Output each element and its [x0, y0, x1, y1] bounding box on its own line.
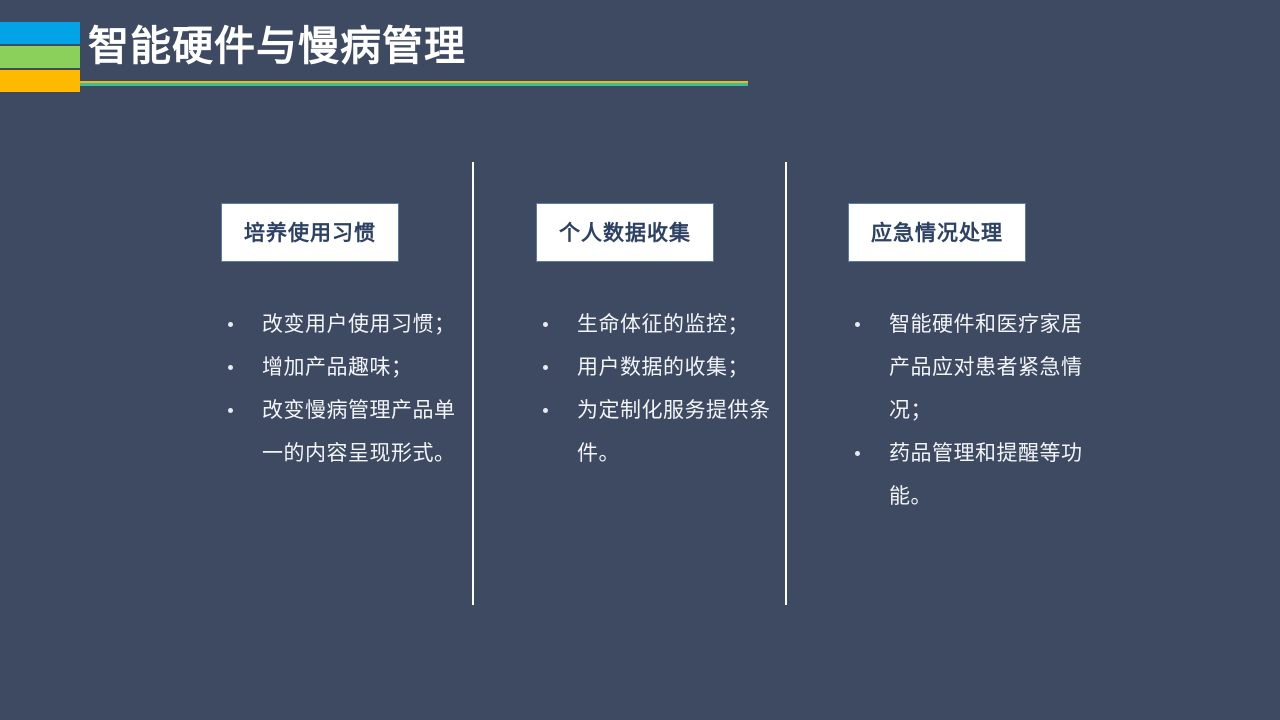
bullet-dot-icon	[543, 408, 548, 413]
bullet-text: 改变用户使用习惯；	[262, 313, 456, 336]
bullet-text: 用户数据的收集；	[577, 356, 749, 379]
bullet-dot-icon	[543, 322, 548, 327]
list-item: 生命体征的监控；	[536, 303, 773, 346]
column-heading-1: 培养使用习惯	[221, 203, 399, 262]
bullet-dot-icon	[855, 451, 860, 456]
slide-canvas: 智能硬件与慢病管理 培养使用习惯 改变用户使用习惯； 增加产品趣味； 改	[0, 0, 1280, 720]
bullet-dot-icon	[228, 408, 233, 413]
column-heading-3: 应急情况处理	[848, 203, 1026, 262]
bullet-list-3: 智能硬件和医疗家居产品应对患者紧急情况； 药品管理和提醒等功能。	[848, 303, 1078, 518]
list-item: 改变用户使用习惯；	[221, 303, 458, 346]
list-item: 改变慢病管理产品单一的内容呈现形式。	[221, 389, 458, 475]
bullet-list-1: 改变用户使用习惯； 增加产品趣味； 改变慢病管理产品单一的内容呈现形式。	[221, 303, 451, 475]
bullet-dot-icon	[228, 365, 233, 370]
list-item: 用户数据的收集；	[536, 346, 773, 389]
bullet-text: 智能硬件和医疗家居产品应对患者紧急情况；	[889, 313, 1083, 422]
bullet-dot-icon	[228, 322, 233, 327]
list-item: 增加产品趣味；	[221, 346, 458, 389]
column-personal-data: 个人数据收集 生命体征的监控； 用户数据的收集； 为定制化服务提供条件。	[536, 203, 766, 475]
bullet-dot-icon	[855, 322, 860, 327]
content-columns: 培养使用习惯 改变用户使用习惯； 增加产品趣味； 改变慢病管理产品单一的内容呈现…	[0, 0, 1280, 720]
list-item: 药品管理和提醒等功能。	[848, 432, 1089, 518]
bullet-dot-icon	[543, 365, 548, 370]
list-item: 智能硬件和医疗家居产品应对患者紧急情况；	[848, 303, 1089, 432]
column-cultivate-habits: 培养使用习惯 改变用户使用习惯； 增加产品趣味； 改变慢病管理产品单一的内容呈现…	[221, 203, 451, 475]
column-emergency-handling: 应急情况处理 智能硬件和医疗家居产品应对患者紧急情况； 药品管理和提醒等功能。	[848, 203, 1078, 518]
bullet-text: 改变慢病管理产品单一的内容呈现形式。	[262, 399, 456, 465]
bullet-text: 生命体征的监控；	[577, 313, 749, 336]
bullet-list-2: 生命体征的监控； 用户数据的收集； 为定制化服务提供条件。	[536, 303, 766, 475]
column-heading-2: 个人数据收集	[536, 203, 714, 262]
bullet-text: 增加产品趣味；	[262, 356, 413, 379]
list-item: 为定制化服务提供条件。	[536, 389, 773, 475]
bullet-text: 为定制化服务提供条件。	[577, 399, 771, 465]
bullet-text: 药品管理和提醒等功能。	[889, 442, 1083, 508]
